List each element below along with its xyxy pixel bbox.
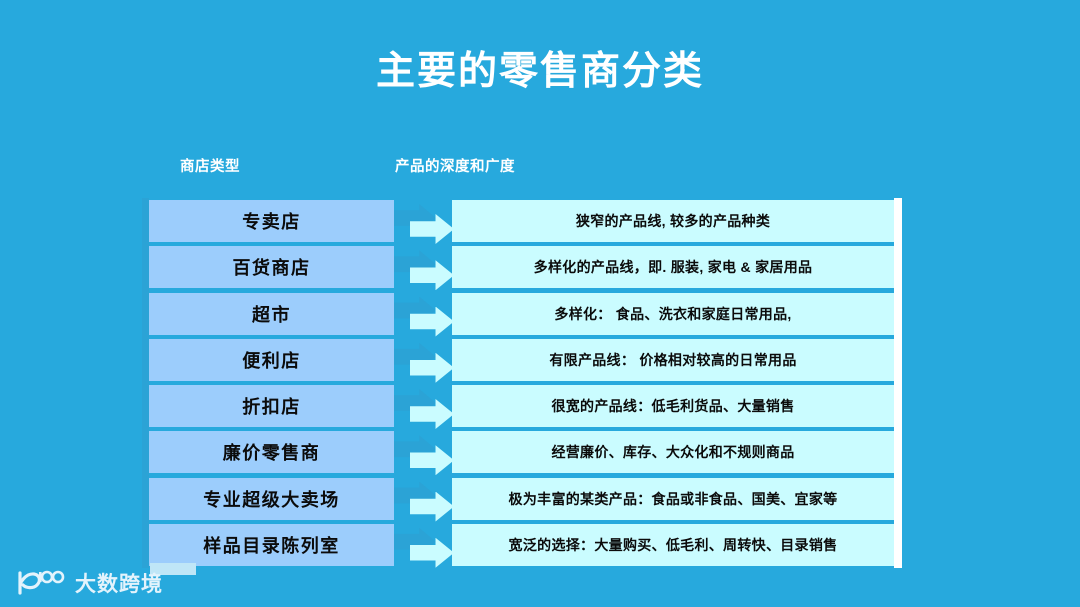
store-type-cell: 专卖店: [149, 200, 394, 242]
description-cell: 很宽的产品线：低毛利货品、大量销售: [452, 385, 894, 427]
row-connector: [394, 293, 452, 335]
description-cell: 极为丰富的某类产品：食品或非食品、国美、宜家等: [452, 478, 894, 520]
retailer-classification-table: 专卖店 狭窄的产品线, 较多的产品种类 百货商店 多样化的产品线，即. 服装, …: [142, 198, 902, 568]
store-type-cell: 专业超级大卖场: [149, 478, 394, 520]
page-title: 主要的零售商分类: [0, 48, 1080, 96]
store-type-cell: 折扣店: [149, 385, 394, 427]
table-row: 折扣店 很宽的产品线：低毛利货品、大量销售: [142, 383, 902, 429]
slide-canvas: 主要的零售商分类 商店类型 产品的深度和广度 专卖店 狭窄的产品线, 较多的产品…: [0, 0, 1080, 607]
row-connector: [394, 524, 452, 566]
row-connector: [394, 431, 452, 473]
row-connector: [394, 246, 452, 288]
row-connector: [394, 200, 452, 242]
description-cell: 有限产品线： 价格相对较高的日常用品: [452, 339, 894, 381]
table-row: 超市 多样化： 食品、洗衣和家庭日常用品,: [142, 291, 902, 337]
description-cell: 多样化： 食品、洗衣和家庭日常用品,: [452, 293, 894, 335]
store-type-cell: 便利店: [149, 339, 394, 381]
store-type-cell: 百货商店: [149, 246, 394, 288]
table-row: 样品目录陈列室 宽泛的选择：大量购买、低毛利、周转快、目录销售: [142, 522, 902, 568]
table-row: 专卖店 狭窄的产品线, 较多的产品种类: [142, 198, 902, 244]
store-type-cell: 样品目录陈列室: [149, 524, 394, 566]
column-header-store-type: 商店类型: [180, 155, 240, 176]
store-type-cell: 超市: [149, 293, 394, 335]
brand-logo: 大数跨境: [14, 566, 163, 600]
description-cell: 经营廉价、库存、大众化和不规则商品: [452, 431, 894, 473]
table-row: 专业超级大卖场 极为丰富的某类产品：食品或非食品、国美、宜家等: [142, 476, 902, 522]
description-cell: 宽泛的选择：大量购买、低毛利、周转快、目录销售: [452, 524, 894, 566]
table-row: 百货商店 多样化的产品线，即. 服装, 家电 & 家居用品: [142, 244, 902, 290]
column-header-product-depth-breadth: 产品的深度和广度: [395, 155, 515, 176]
row-connector: [394, 478, 452, 520]
store-type-cell: 廉价零售商: [149, 431, 394, 473]
row-connector: [394, 339, 452, 381]
table-row: 便利店 有限产品线： 价格相对较高的日常用品: [142, 337, 902, 383]
brand-logo-text: 大数跨境: [75, 568, 163, 598]
description-cell: 多样化的产品线，即. 服装, 家电 & 家居用品: [452, 246, 894, 288]
table-row: 廉价零售商 经营廉价、库存、大众化和不规则商品: [142, 429, 902, 475]
row-connector: [394, 385, 452, 427]
description-cell: 狭窄的产品线, 较多的产品种类: [452, 200, 894, 242]
k100-logo-icon: [14, 569, 66, 597]
